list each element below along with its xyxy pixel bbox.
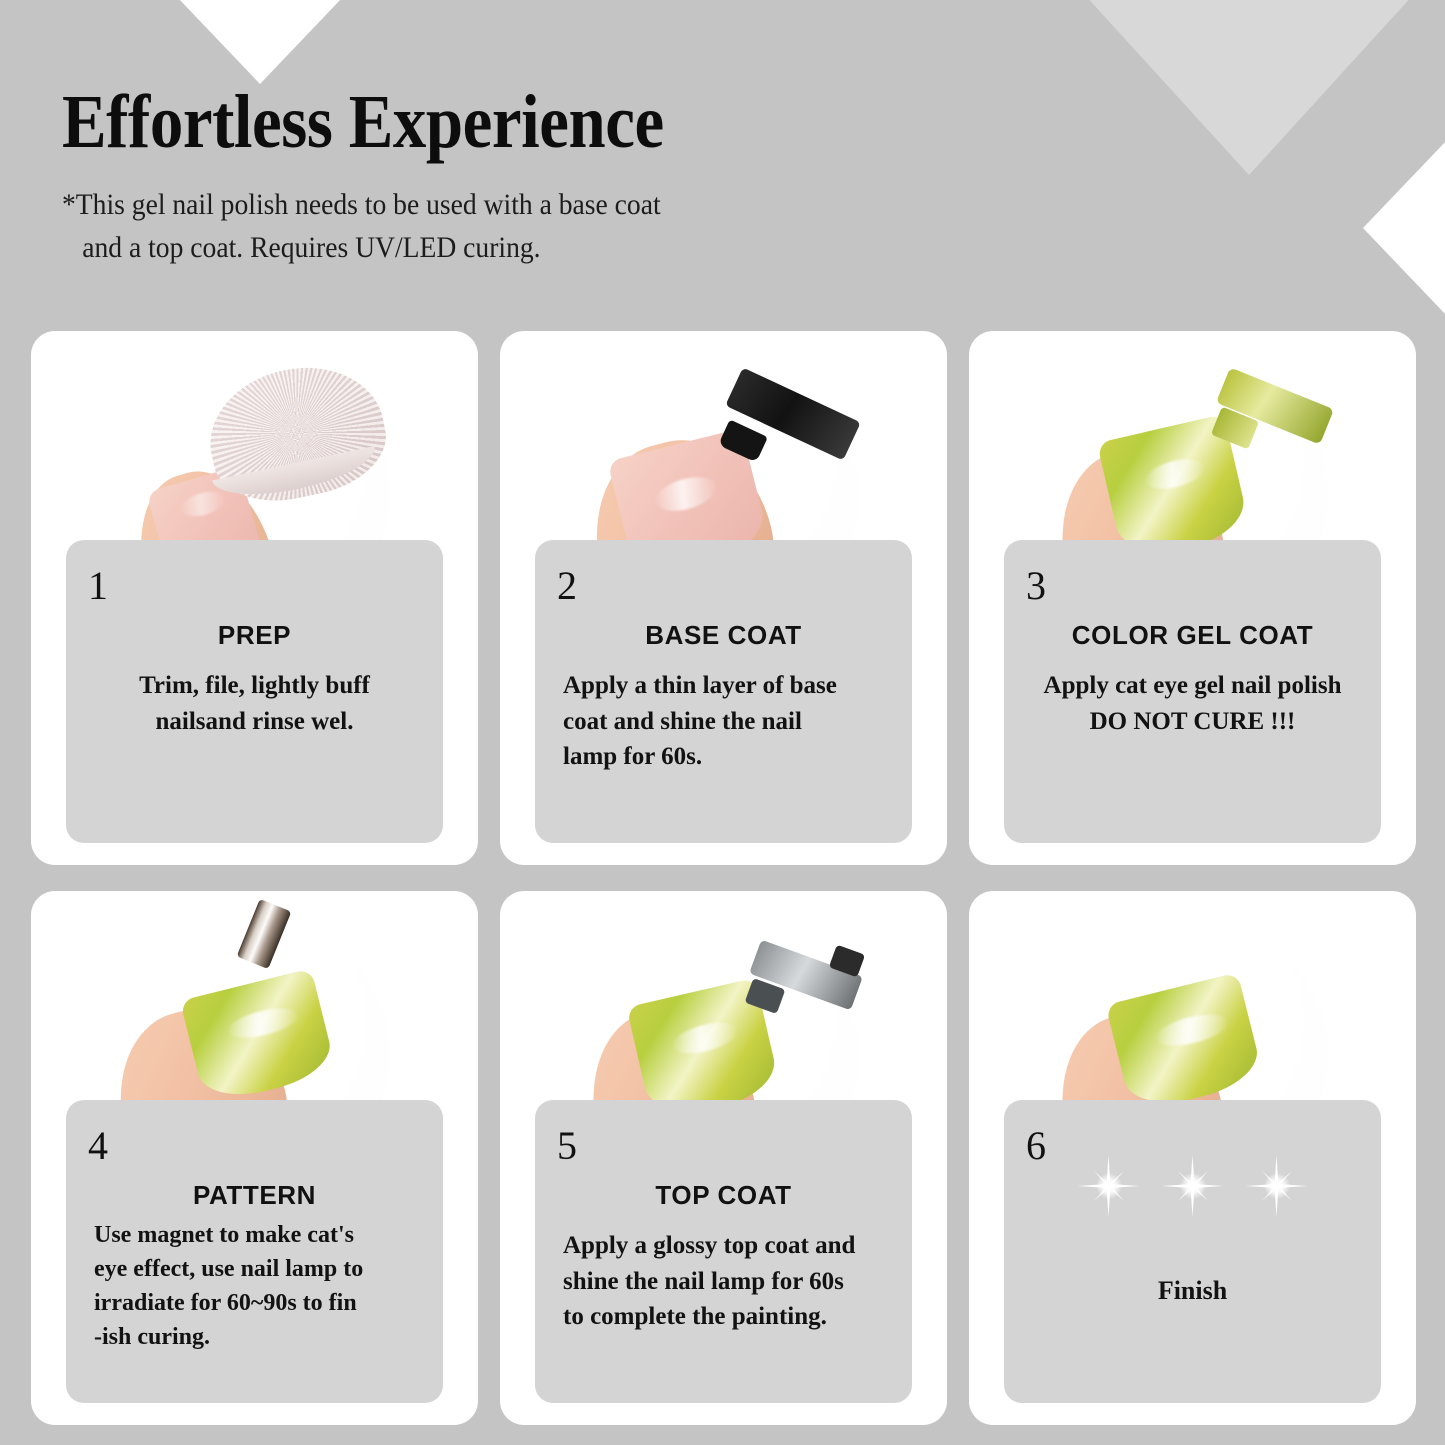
page-subtitle: *This gel nail polish needs to be used w… [62, 184, 991, 269]
step-body: Apply a glossy top coat and shine the na… [563, 1228, 890, 1335]
step-heading: TOP COAT [535, 1180, 912, 1211]
subtitle-line-1: *This gel nail polish needs to be used w… [62, 188, 661, 221]
step-number: 3 [1026, 566, 1046, 606]
step-heading: BASE COAT [535, 620, 912, 651]
sparkle-icon [1158, 1151, 1228, 1221]
step-info-panel: 6 Finish [1004, 1100, 1381, 1403]
step-card-3[interactable]: 3 COLOR GEL COAT Apply cat eye gel nail … [969, 331, 1416, 865]
step-card-5[interactable]: 5 TOP COAT Apply a glossy top coat and s… [500, 891, 947, 1425]
sparkle-icon [1242, 1151, 1312, 1221]
page-title: Effortless Experience [62, 84, 951, 160]
steps-grid: 1 PREP Trim, file, lightly buff nailsand… [31, 331, 1415, 1425]
sparkle-icon [1074, 1151, 1144, 1221]
step-number: 2 [557, 566, 577, 606]
top-left-triangle-decoration [178, 0, 342, 84]
right-edge-triangle-decoration [1363, 138, 1445, 318]
header: Effortless Experience *This gel nail pol… [62, 84, 1072, 269]
step-number: 5 [557, 1126, 577, 1166]
step-card-6[interactable]: 6 Finish [969, 891, 1416, 1425]
step-body: Apply a thin layer of base coat and shin… [563, 668, 890, 775]
step-info-panel: 5 TOP COAT Apply a glossy top coat and s… [535, 1100, 912, 1403]
step-number: 1 [88, 566, 108, 606]
sparkle-group [1004, 1146, 1381, 1226]
step-heading: PATTERN [66, 1180, 443, 1211]
step-number: 4 [88, 1126, 108, 1166]
step-info-panel: 1 PREP Trim, file, lightly buff nailsand… [66, 540, 443, 843]
step-card-4[interactable]: 4 PATTERN Use magnet to make cat's eye e… [31, 891, 478, 1425]
top-right-chevron-decoration [1053, 0, 1445, 175]
step-heading: PREP [66, 620, 443, 651]
step-info-panel: 4 PATTERN Use magnet to make cat's eye e… [66, 1100, 443, 1403]
step-body: Apply cat eye gel nail polish DO NOT CUR… [1018, 668, 1367, 739]
step-card-2[interactable]: 2 BASE COAT Apply a thin layer of base c… [500, 331, 947, 865]
step-body: Use magnet to make cat's eye effect, use… [94, 1218, 421, 1354]
subtitle-line-2: and a top coat. Requires UV/LED curing. [62, 227, 991, 270]
step-info-panel: 3 COLOR GEL COAT Apply cat eye gel nail … [1004, 540, 1381, 843]
step-body: Finish [1004, 1276, 1381, 1306]
step-heading: COLOR GEL COAT [1004, 620, 1381, 651]
step-body: Trim, file, lightly buff nailsand rinse … [80, 668, 429, 739]
step-card-1[interactable]: 1 PREP Trim, file, lightly buff nailsand… [31, 331, 478, 865]
step-info-panel: 2 BASE COAT Apply a thin layer of base c… [535, 540, 912, 843]
